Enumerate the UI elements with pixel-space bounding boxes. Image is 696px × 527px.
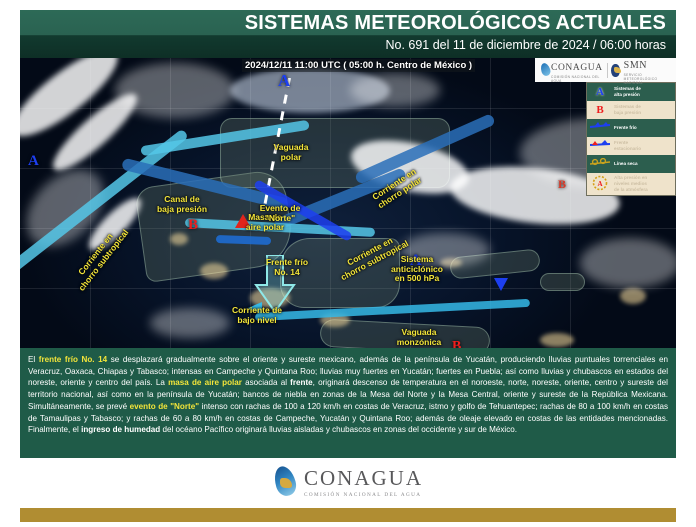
map-timestamp: 2024/12/11 11:00 UTC ( 05:00 h. Centro d… xyxy=(242,59,475,72)
conagua-drop-icon xyxy=(273,466,297,498)
legend-item-alta-presion: A Sistemas de alta presión xyxy=(587,83,675,101)
map-label-evento-norte: Evento de "Norte" xyxy=(248,204,312,223)
map-label-sistema-anticiclonico: Sistema anticiclónico en 500 hPa xyxy=(378,255,456,284)
legend-label: Línea seca xyxy=(614,161,638,167)
conagua-drop-icon xyxy=(540,63,547,77)
text-frag: del océano Pacífico originará lluvias ai… xyxy=(160,425,517,434)
city-lights xyxy=(200,263,228,279)
legend-item-alta-niveles-medios: A Alta presión en niveles medios de la a… xyxy=(587,173,675,195)
high-pressure-icon: A xyxy=(589,86,611,98)
cloud-mass xyxy=(580,238,676,288)
satellite-map[interactable]: A A B A B B Vaguada polar Corriente en c… xyxy=(20,58,676,348)
cloud-mass xyxy=(150,308,230,338)
smn-logo-subtitle: SERVICIO METEOROLÓGICO NACIONAL xyxy=(624,73,671,85)
text-frag: El xyxy=(28,355,39,364)
page-header: SISTEMAS METEOROLÓGICOS ACTUALES No. 691… xyxy=(20,10,676,58)
bulletin-number-date: No. 691 del 11 de diciembre de 2024 / 06… xyxy=(385,38,666,52)
pressure-marker-low: B xyxy=(558,178,566,190)
conagua-footer-logo: CONAGUA COMISIÓN NACIONAL DEL AGUA xyxy=(273,466,423,498)
landmass-hispaniola xyxy=(540,273,585,291)
cloud-mass xyxy=(350,73,440,107)
legend-item-linea-seca: Línea seca xyxy=(587,155,675,173)
city-lights xyxy=(540,333,574,347)
map-label-vaguada-polar: Vaguada polar xyxy=(260,143,322,162)
city-lights xyxy=(620,288,646,304)
legend-item-frente-frio: Frente frío xyxy=(587,119,675,137)
forecast-description: El frente frío No. 14 se desplazará grad… xyxy=(20,348,676,458)
pressure-marker-high: A xyxy=(28,154,39,169)
highlight-masa-aire-polar: masa de aire polar xyxy=(168,378,242,387)
pressure-marker-low: B xyxy=(452,340,461,348)
text-bold-ingreso-humedad: ingreso de humedad xyxy=(81,425,160,434)
map-legend: A Sistemas de alta presión B Sistemas de… xyxy=(586,82,676,196)
footer-logo-name: CONAGUA xyxy=(304,466,423,490)
logo-divider xyxy=(607,63,608,78)
low-pressure-icon: B xyxy=(589,104,611,116)
legend-item-baja-presion: B Sistemas de baja presión xyxy=(587,101,675,119)
highlight-evento-norte: evento de "Norte" xyxy=(130,402,199,411)
map-label-frente-frio: Frente frío No. 14 xyxy=(258,258,316,277)
legend-label: Frente frío xyxy=(614,125,637,131)
legend-label: Sistemas de baja presión xyxy=(614,104,641,115)
stationary-front-icon xyxy=(589,140,611,152)
highlight-frente-frio: frente frío No. 14 xyxy=(39,355,107,364)
legend-label: Alta presión en niveles medios de la atm… xyxy=(614,175,648,192)
map-label-canal-baja-presion: Canal de baja presión xyxy=(150,195,214,214)
smn-logo-text: SMN xyxy=(624,60,647,71)
legend-label: Frente estacionario xyxy=(614,140,641,151)
text-frag: asociada al xyxy=(242,378,290,387)
weather-bulletin-page: SISTEMAS METEOROLÓGICOS ACTUALES No. 691… xyxy=(0,0,696,527)
page-title: SISTEMAS METEOROLÓGICOS ACTUALES xyxy=(245,12,666,35)
legend-item-frente-estacionario: Frente estacionario xyxy=(587,137,675,155)
agency-logos: CONAGUA COMISIÓN NACIONAL DEL AGUA SMN S… xyxy=(535,58,676,82)
text-bold-frente: frente xyxy=(290,378,313,387)
jet-arrow-icon xyxy=(492,276,512,296)
city-lights xyxy=(170,233,188,245)
cloud-mass xyxy=(115,63,235,118)
map-label-vaguada-monzonica: Vaguada monzónica xyxy=(388,328,450,347)
mid-level-high-icon: A xyxy=(589,175,611,194)
cold-front-icon xyxy=(589,122,611,134)
footer-gold-bar xyxy=(20,508,676,522)
smn-emblem-icon xyxy=(611,64,619,77)
dry-line-icon xyxy=(589,158,611,170)
pressure-marker-high: A xyxy=(278,72,290,89)
conagua-logo-subtitle: COMISIÓN NACIONAL DEL AGUA xyxy=(551,75,603,83)
legend-label: Sistemas de alta presión xyxy=(614,86,641,97)
map-label-corriente-bajo-nivel: Corriente de bajo nivel xyxy=(224,306,290,325)
conagua-logo-text: CONAGUA xyxy=(551,63,603,73)
footer-logo-subtitle: COMISIÓN NACIONAL DEL AGUA xyxy=(304,492,423,498)
svg-text:A: A xyxy=(597,180,602,188)
pressure-marker-low: B xyxy=(188,218,198,233)
